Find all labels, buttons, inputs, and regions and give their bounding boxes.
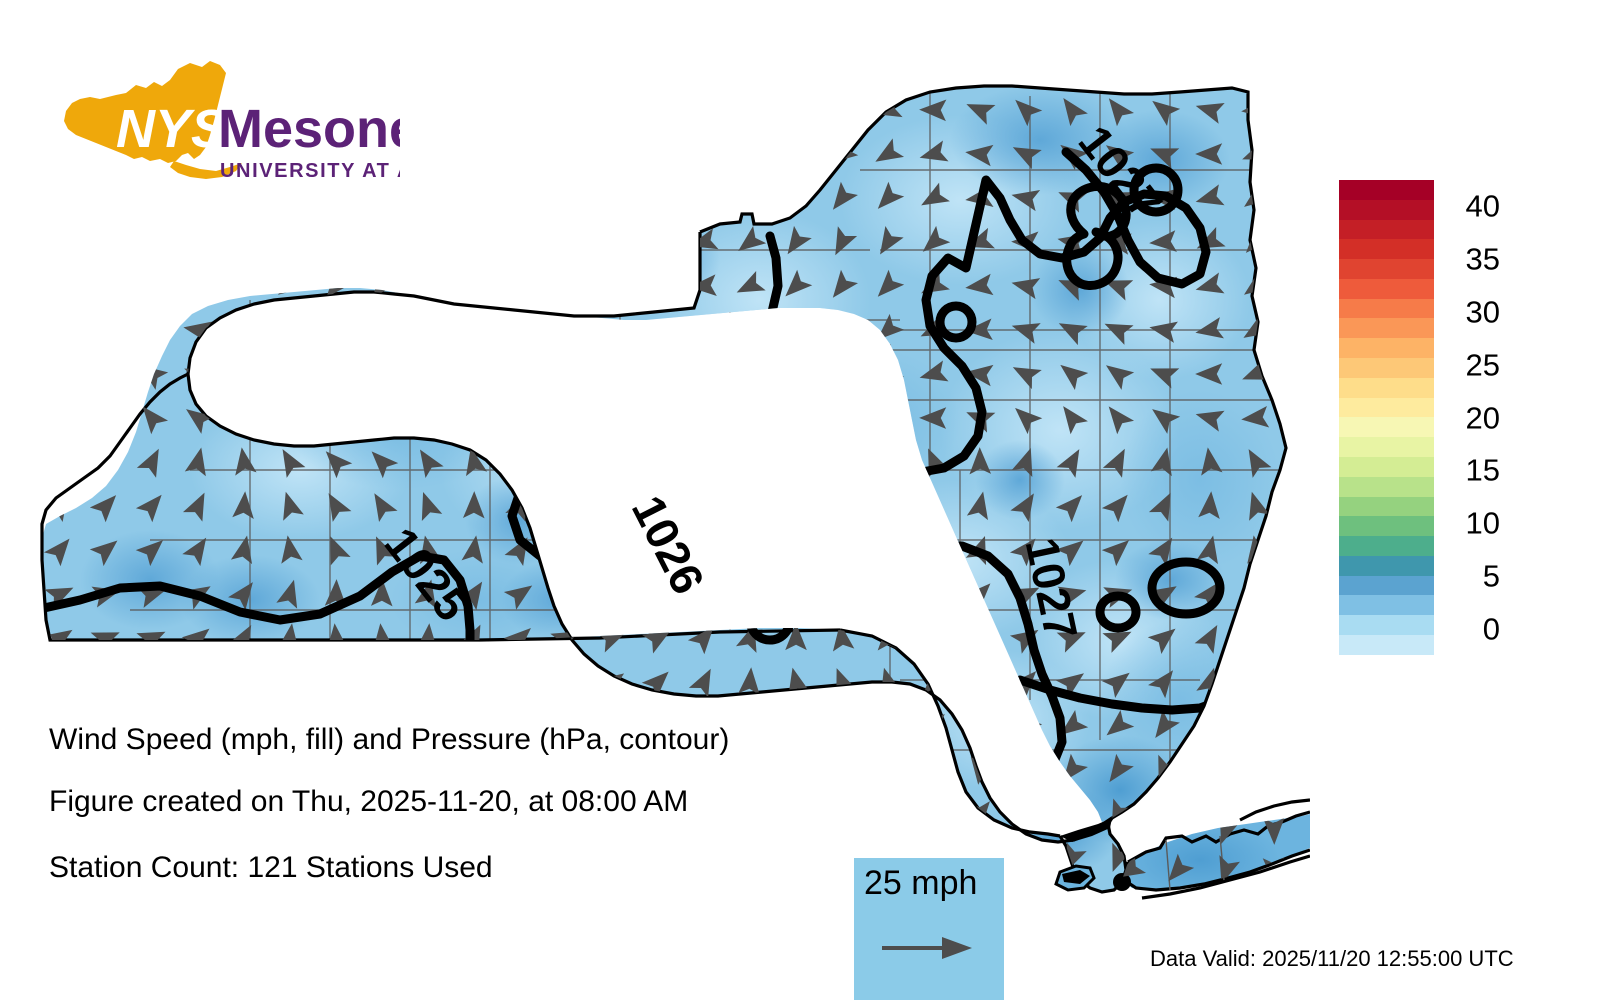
wind-barb [874,711,903,743]
wind-barb [89,92,122,127]
wind-barb [965,664,996,697]
wind-barb [42,138,76,170]
colorbar-band [1339,477,1434,497]
wind-barb [318,358,353,391]
wind-barb [43,272,74,299]
wind-barb [364,314,398,348]
colorbar-band [1339,358,1434,378]
wind-barb [457,96,488,123]
wind-barb [550,229,580,254]
colorbar-band [1339,556,1434,576]
wind-barb [644,444,674,477]
wind-barb [88,136,123,170]
wind-barb [229,143,256,165]
wind-barb [410,182,445,216]
wind-barb [319,226,351,260]
weather-map-figure: NYS Mesonet UNIVERSITY AT ALBANY [0,0,1600,1000]
wind-barb [272,314,306,347]
wind-barb [318,182,352,217]
wind-barb [227,96,259,124]
wind-barb [687,141,718,167]
wind-barb [45,231,73,253]
wind-barb [230,665,258,697]
wind-barb [410,314,445,347]
wind-barb [872,798,906,832]
wind-barb [318,314,352,348]
colorbar-tick-20: 20 [1444,402,1500,433]
wind-barb [781,754,813,788]
wind-barb [689,319,716,341]
wind-barb [640,400,674,434]
wind-barb [824,403,857,433]
wind-barb [594,356,629,390]
wind-barb [503,359,535,388]
contour-label-1026-1: 1026 [622,487,715,602]
wind-barb [733,141,764,167]
wind-barb [923,535,946,563]
wind-barb [182,186,211,210]
wind-barb [550,532,584,566]
colorbar-band [1339,536,1434,556]
colorbar-band [1339,398,1434,418]
wind-barb [42,400,76,434]
wind-barb [318,96,351,125]
wind-barb [550,488,584,523]
wind-barb [778,139,812,171]
wind-barb [872,488,903,522]
wind-barb [548,137,582,170]
wind-barb [364,96,397,125]
wind-barb [919,576,949,609]
wind-barb [551,579,583,608]
wind-barb [1197,800,1223,831]
wind-barb [690,489,718,521]
wind-barb [457,316,489,344]
wind-barb [872,754,905,788]
wind-barb [364,270,398,305]
colorbar-band [1339,457,1434,477]
wind-barb [734,98,763,122]
wind-barb [778,359,812,391]
wind-barb [732,315,765,345]
wind-barb [1244,666,1268,695]
wind-barb [827,711,857,744]
wind-barb [596,843,627,876]
colorbar-band [1339,417,1434,437]
colorbar-band [1339,615,1434,635]
wind-barb [134,183,167,213]
wind-barb [824,358,859,392]
data-valid-timestamp: Data Valid: 2025/11/20 12:55:00 UTC [1150,946,1514,972]
wind-barb [596,488,630,522]
wind-barb [686,402,720,433]
colorbar-tick-5: 5 [1444,560,1500,591]
wind-barb [274,98,303,122]
colorbar-tick-10: 10 [1444,508,1500,539]
wind-barb [134,137,169,170]
wind-barb [687,361,718,387]
wind-barb [502,93,536,126]
wind-barb [456,272,488,301]
wind-barb [182,274,211,298]
wind-barb [412,98,442,123]
colorbar-band [1339,378,1434,398]
wind-barb [227,404,259,432]
wind-barb [1199,758,1221,785]
wind-barb [548,92,582,127]
wind-barb [1056,798,1087,832]
wind-barb [364,404,397,434]
wind-barb [594,270,627,301]
wind-barb [88,314,122,346]
wind-barb [229,363,256,385]
wind-barb [594,136,629,170]
wind-barb [548,314,581,345]
wind-barb [735,444,764,477]
wind-barb [826,754,860,789]
colorbar-tick-15: 15 [1444,455,1500,486]
wind-barb [318,404,351,433]
wind-barb [780,798,814,833]
wind-barb [1244,622,1269,652]
wind-barb [462,757,486,786]
wind-barb [641,272,673,300]
wind-barb [1151,800,1177,830]
wind-barb [686,94,720,126]
wind-barb [781,533,810,565]
wind-barb [691,756,717,787]
wind-barb [90,665,125,698]
wind-barb [227,317,258,343]
colorbar-band [1339,576,1434,596]
colorbar-band [1339,180,1434,200]
wind-barb [458,362,486,385]
wind-barb [1241,755,1271,788]
wind-barb [824,96,857,126]
wind-barb [1244,713,1269,742]
wind-barb [594,754,628,789]
wind-barb [780,842,814,876]
wind-barb [692,845,715,873]
wind-barb [412,405,442,431]
wind-barb [88,400,121,435]
wind-barb [44,754,76,788]
colorbar-band [1339,497,1434,517]
wind-arrow-icon [880,924,980,964]
wind-barb [826,798,861,832]
wind-barb [920,621,948,653]
wind-barb [504,230,534,255]
wind-barb [42,358,76,390]
wind-barb [505,274,533,297]
wind-barb [410,226,444,261]
wind-barb [826,532,857,566]
wind-barb [46,444,75,477]
colorbar-tick-25: 25 [1444,349,1500,380]
wind-barb [410,139,443,170]
colorbar-band [1339,279,1434,299]
wind-barb [183,755,213,788]
wind-speed-colorbar [1339,180,1434,655]
wind-barb [640,137,674,169]
wind-barb [180,139,213,169]
wind-barb [919,798,950,832]
wind-barb [136,229,166,255]
wind-barb [735,842,766,876]
wind-barb [964,711,994,744]
wind-barb [272,139,305,169]
wind-barb [831,579,853,606]
wind-barb [551,843,580,876]
wind-barb [410,359,443,390]
colorbar-tick-30: 30 [1444,296,1500,327]
wind-barb [738,713,761,741]
wind-barb [503,139,535,168]
wind-barb [318,138,353,171]
wind-barb [640,357,674,389]
wind-barb [780,488,811,522]
wind-barb [456,184,489,213]
colorbar-band [1339,635,1434,655]
wind-barb [644,843,672,875]
wind-barb [136,664,171,698]
wind-barb [275,755,305,788]
wind-barb [320,754,353,789]
wind-barb [504,317,534,342]
wind-barb [415,666,440,696]
wind-barb [366,754,399,789]
colorbar-tick-labels: 4035302520151050 [1444,180,1534,655]
wind-barb [504,664,537,698]
wind-barb [964,620,997,655]
wind-barb [920,755,948,787]
colorbar-tick-0: 0 [1444,613,1500,644]
wind-barb [318,270,352,305]
wind-barb [595,92,628,127]
wind-barb [595,228,626,255]
wind-barb [182,230,211,254]
wind-barb [507,446,533,476]
wind-barb [456,227,490,259]
wind-barb [43,315,75,343]
wind-barb [778,314,813,348]
wind-barb [734,406,762,429]
wind-barb [134,314,168,345]
wind-barb [274,406,303,430]
wind-barb [782,711,810,743]
colorbar-band [1339,200,1434,220]
colorbar-band [1339,338,1434,358]
wind-barb [737,756,764,787]
wind-barb [735,799,765,832]
wind-barb [458,142,486,165]
wind-barb [365,226,397,260]
wind-barb [688,186,716,210]
wind-barb [505,755,534,787]
wind-barb [364,182,398,217]
wind-barb [233,758,255,785]
station-count-label: Station Count: 121 Stations Used [49,851,493,885]
colorbar-tick-35: 35 [1444,244,1500,275]
figure-created-timestamp: Figure created on Thu, 2025-11-20, at 08… [49,785,688,819]
wind-barb [364,138,399,171]
wind-barb [597,444,629,478]
wind-barb [735,576,766,610]
wind-barb [641,754,673,788]
wind-barb [367,664,397,697]
wind-key-label: 25 mph [864,864,977,903]
wind-barb [598,580,629,608]
wind-barb [548,400,582,435]
wind-barb [825,488,858,522]
wind-barb [778,444,812,479]
colorbar-band [1339,516,1434,536]
wind-barb [596,532,631,566]
wind-barb [693,802,715,829]
colorbar-band [1339,437,1434,457]
wind-barb [88,182,121,212]
wind-barb [876,578,900,607]
wind-barb [321,664,350,697]
wind-barb [739,535,761,562]
wind-barb [595,400,628,435]
wind-barb [226,227,260,258]
wind-barb [88,754,122,789]
colorbar-band [1339,595,1434,615]
colorbar-band [1339,220,1434,240]
wind-barb [278,666,302,695]
wind-barb [779,405,810,433]
wind-barb [548,183,581,212]
wind-barb [1010,754,1041,788]
wind-barb [42,92,76,126]
wind-barb [1012,844,1039,875]
wind-barb [551,444,582,478]
wind-barb [364,358,399,391]
wind-barb [693,447,716,475]
wind-barb [824,444,858,478]
wind-barb [502,401,536,434]
colorbar-band [1339,259,1434,279]
wind-barb [457,404,488,431]
wind-barb [548,357,582,390]
wind-barb [870,358,904,391]
wind-barb [413,754,444,788]
wind-barb [182,664,216,699]
wind-barb [508,845,531,873]
colorbar-band [1339,299,1434,319]
wind-barb [134,271,167,301]
wind-barb [594,182,627,213]
wind-barb [824,314,858,349]
wind-barb [43,184,74,211]
wind-barb [641,184,673,212]
wind-barb [135,754,168,789]
wind-barb [550,664,585,698]
wind-barb [733,361,764,387]
wind-barb [89,228,120,255]
figure-title: Wind Speed (mph, fill) and Pressure (hPa… [49,723,729,757]
wind-barb [784,578,809,608]
wind-barb [549,754,582,788]
colorbar-band [1339,239,1434,259]
wind-barb [88,270,121,301]
wind-barb [180,92,215,126]
wind-barb [44,664,78,698]
wind-barb [461,665,488,696]
wind-barb [871,404,903,432]
wind-barb [272,182,307,215]
wind-barb [227,184,259,212]
wind-barb [873,532,902,565]
wind-barb [272,359,305,389]
wind-barb [870,444,904,479]
wind-speed-key-box: 25 mph [854,858,1004,1000]
colorbar-band [1339,318,1434,338]
wind-barb [642,230,670,253]
wind-barb [738,490,763,519]
colorbar-tick-40: 40 [1444,191,1500,222]
wind-barb [732,183,766,214]
wind-barb [272,226,306,260]
wind-barb [779,97,810,124]
wind-barb [640,92,674,126]
wind-barb [548,271,581,300]
contour-ring-central [806,464,854,512]
wind-barb [88,356,123,390]
wind-barb [134,92,168,127]
wind-barb [505,186,533,209]
